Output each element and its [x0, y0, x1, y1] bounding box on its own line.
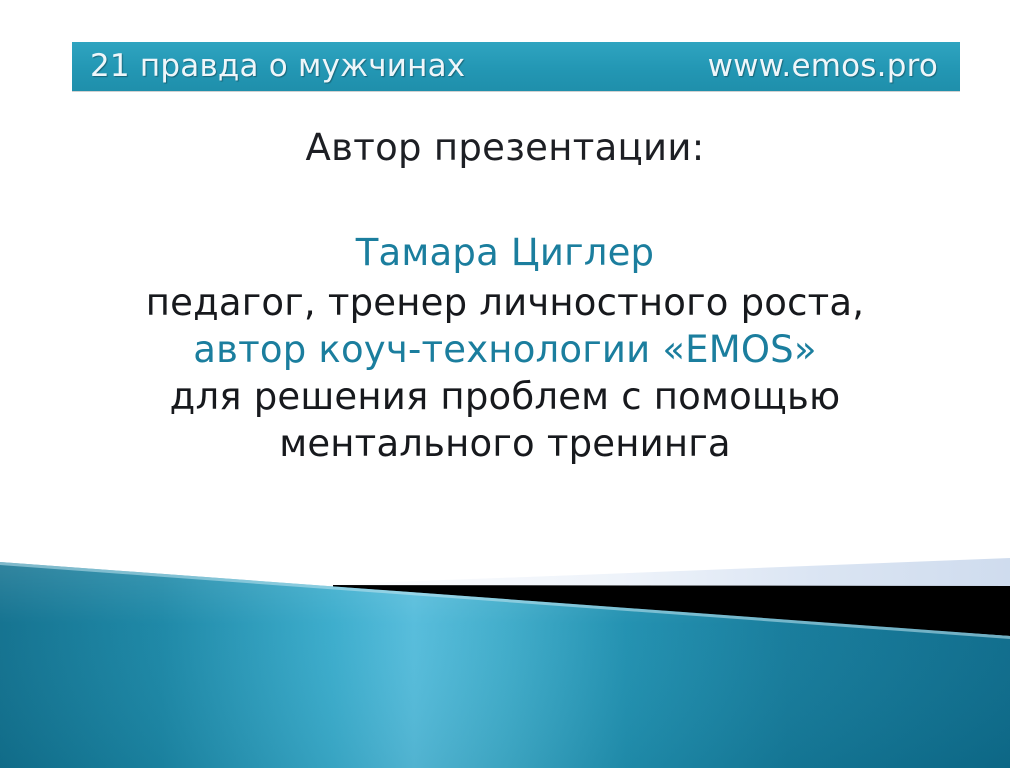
- author-purpose-line-1: для решения проблем с помощью: [0, 375, 1010, 418]
- slide-header-bar: 21 правда о мужчинах www.emos.pro: [72, 42, 960, 91]
- body-spacer: [0, 169, 1010, 231]
- slide-header-url: www.emos.pro: [708, 51, 944, 82]
- decoration-shapes: [0, 520, 1010, 768]
- slide-body: Автор презентации: Тамара Циглер педагог…: [0, 126, 1010, 466]
- author-lead-label: Автор презентации:: [0, 126, 1010, 169]
- presentation-slide: 21 правда о мужчинах www.emos.pro Автор …: [0, 0, 1010, 768]
- slide-header-title: 21 правда о мужчинах: [90, 51, 465, 82]
- author-role: педагог, тренер личностного роста,: [0, 281, 1010, 324]
- author-technology: автор коуч-технологии «EMOS»: [0, 328, 1010, 371]
- slide-bottom-decoration: [0, 520, 1010, 768]
- author-purpose-line-2: ментального тренинга: [0, 422, 1010, 465]
- author-name: Тамара Циглер: [0, 231, 1010, 274]
